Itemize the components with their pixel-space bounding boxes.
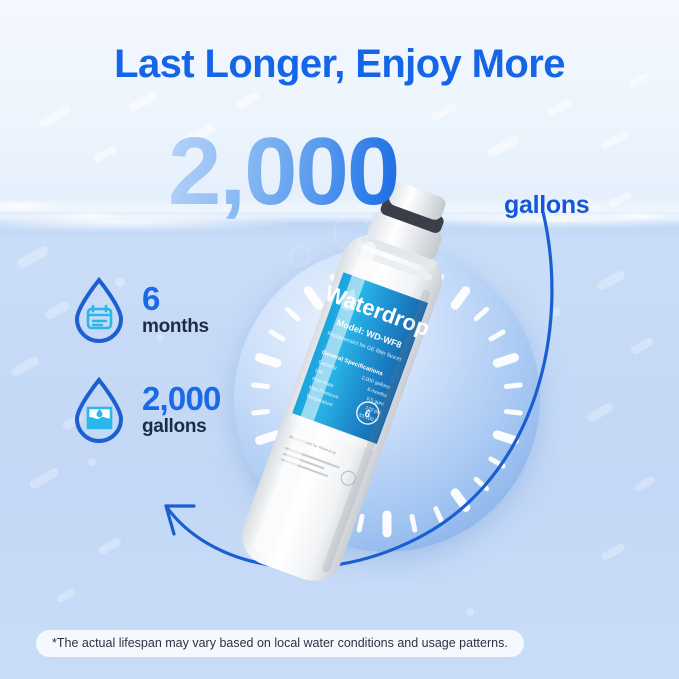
footnote-disclaimer: *The actual lifespan may vary based on l… — [36, 630, 524, 657]
badge-gallons-value: 2,000 — [142, 383, 221, 414]
product-poster: Waterdrop Model: WD-WF8 Replacement for … — [0, 0, 679, 679]
badge-months-value: 6 — [142, 283, 209, 314]
badge-gallons-unit: gallons — [142, 417, 221, 437]
page-title: Last Longer, Enjoy More — [0, 42, 679, 87]
hero-number: 2,000 — [168, 124, 398, 220]
badge-months: 6 months — [70, 276, 209, 344]
badge-gallons: 2,000 gallons — [70, 376, 221, 444]
droplet-calendar-icon — [70, 276, 128, 344]
product-water-filter-cartridge: Waterdrop Model: WD-WF8 Replacement for … — [208, 180, 528, 610]
badge-months-unit: months — [142, 317, 209, 337]
hero-unit-label: gallons — [504, 191, 589, 220]
droplet-tank-icon — [70, 376, 128, 444]
